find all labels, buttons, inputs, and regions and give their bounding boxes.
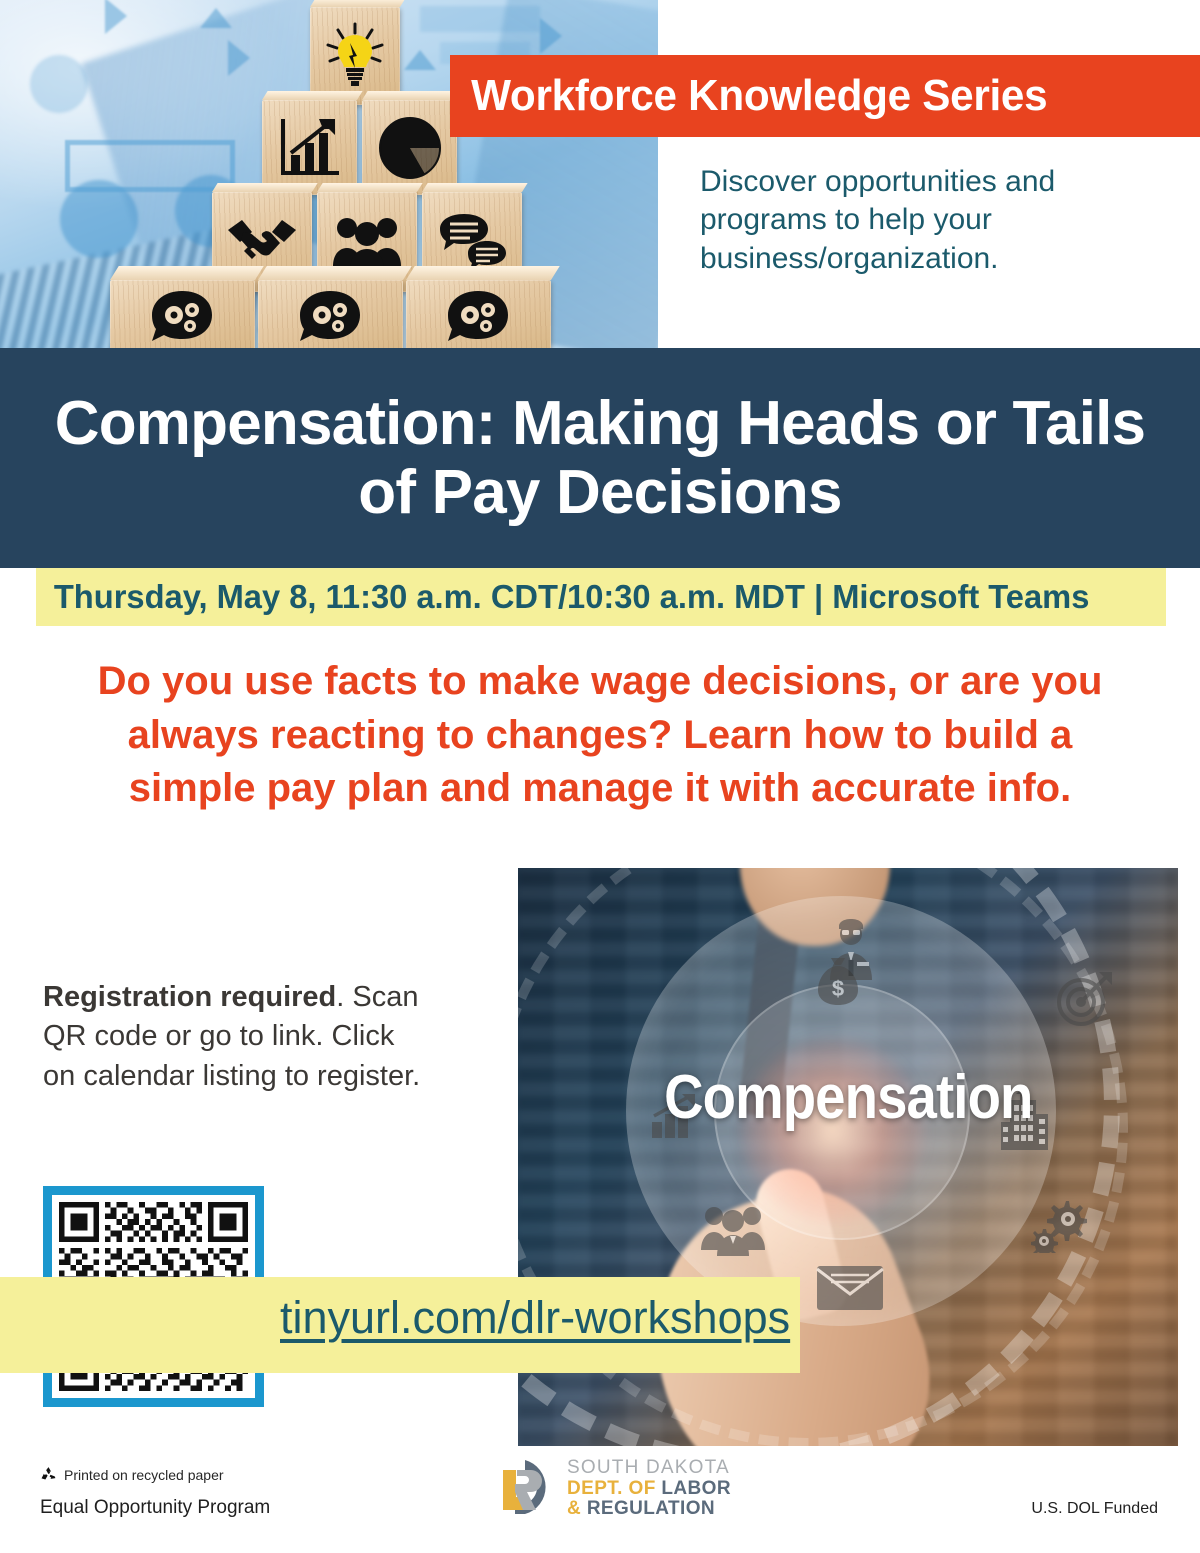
team-people-icon	[700, 1204, 770, 1256]
banner-label: Workforce Knowledge Series	[450, 71, 1047, 121]
logo-line-regulation: & REGULATION	[567, 1499, 731, 1520]
block-brain-gears-1	[110, 280, 255, 348]
handshake-icon	[226, 214, 298, 270]
event-datetime-band: Thursday, May 8, 11:30 a.m. CDT/10:30 a.…	[36, 568, 1166, 626]
workforce-knowledge-series-banner: Workforce Knowledge Series	[450, 55, 1200, 137]
businessperson-icon-graphic	[826, 918, 878, 980]
recycle-icon	[40, 1466, 57, 1483]
registration-required-label: Registration required	[43, 981, 336, 1013]
envelope-icon	[815, 1262, 885, 1314]
block-brain-gears-2	[258, 280, 403, 348]
logo-ampersand: &	[567, 1498, 587, 1519]
bar-chart-growth-icon	[277, 115, 343, 181]
logo-regulation: REGULATION	[587, 1498, 715, 1519]
hero-subtitle: Discover opportunities and programs to h…	[700, 163, 1170, 278]
dol-funded-label: U.S. DOL Funded	[1031, 1500, 1158, 1518]
hero-section: Workforce Knowledge Series Discover oppo…	[0, 0, 1200, 348]
registration-url-link[interactable]: tinyurl.com/dlr-workshops	[280, 1292, 790, 1344]
wooden-blocks-pyramid	[0, 0, 658, 348]
pie-chart-icon	[377, 115, 443, 181]
lead-paragraph: Do you use facts to make wage decisions,…	[70, 655, 1130, 816]
flyer-page: Workforce Knowledge Series Discover oppo…	[0, 0, 1200, 1553]
block-growth-chart	[262, 100, 357, 195]
recycled-paper-note: Printed on recycled paper	[40, 1466, 224, 1483]
workforce-blocks-photo	[0, 0, 658, 348]
logo-line-dept-labor: DEPT. OF LABOR	[567, 1479, 731, 1500]
equal-opportunity-label: Equal Opportunity Program	[40, 1497, 270, 1519]
logo-line-south-dakota: SOUTH DAKOTA	[567, 1458, 731, 1479]
people-group-icon	[331, 214, 403, 270]
registration-instructions: Registration required. Scan QR code or g…	[43, 978, 433, 1096]
logo-labor: LABOR	[661, 1478, 731, 1499]
lightbulb-icon	[324, 21, 386, 91]
title-band: Compensation: Making Heads or Tails of P…	[0, 348, 1200, 568]
brain-gears-icon	[436, 288, 522, 342]
lr-monogram-icon	[495, 1456, 559, 1518]
brain-gears-icon	[288, 288, 374, 342]
event-datetime-text: Thursday, May 8, 11:30 a.m. CDT/10:30 a.…	[36, 578, 1089, 616]
block-brain-gears-3	[406, 280, 551, 348]
logo-dept-of: DEPT. OF	[567, 1478, 661, 1499]
logo-wordmark: SOUTH DAKOTA DEPT. OF LABOR & REGULATION	[567, 1456, 731, 1520]
speech-bubbles-icon	[436, 211, 508, 273]
sd-dlr-logo: SOUTH DAKOTA DEPT. OF LABOR & REGULATION	[495, 1456, 731, 1520]
recycled-paper-label: Printed on recycled paper	[64, 1467, 224, 1483]
target-icon	[1055, 970, 1113, 1028]
brain-gears-icon	[140, 288, 226, 342]
gears-icon	[1030, 1195, 1090, 1253]
block-pie-chart	[362, 100, 457, 195]
page-title: Compensation: Making Heads or Tails of P…	[0, 389, 1200, 528]
compensation-overlay-word: Compensation	[518, 1062, 1178, 1133]
